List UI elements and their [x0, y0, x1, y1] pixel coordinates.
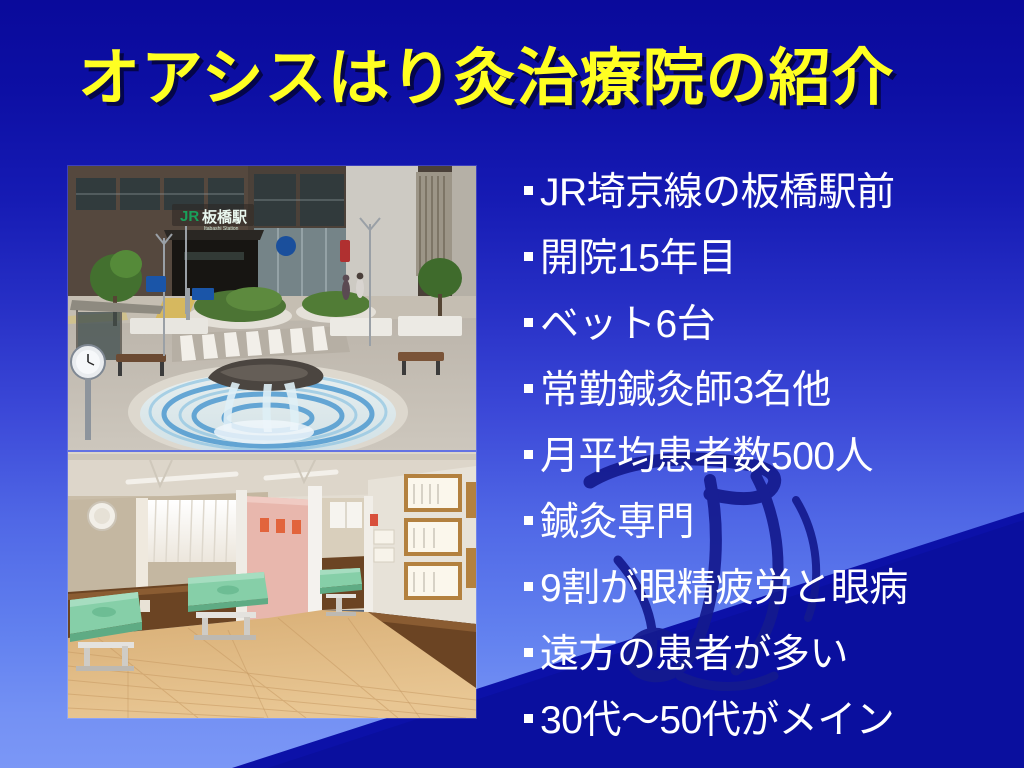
- list-item: ベット6台: [524, 292, 1016, 358]
- list-item-label: 常勤鍼灸師3名他: [540, 358, 831, 424]
- list-item-label: 月平均患者数500人: [540, 424, 873, 490]
- square-bullet-icon: [524, 384, 533, 393]
- list-item: 開院15年目: [524, 226, 1016, 292]
- svg-text:JR: JR: [180, 208, 199, 225]
- square-bullet-icon: [524, 714, 533, 723]
- jr-itabashi-station-plaza-photo: JR 板橋駅 Itabashi Station: [68, 166, 476, 450]
- svg-text:板橋駅: 板橋駅: [202, 208, 248, 226]
- square-bullet-icon: [524, 252, 533, 261]
- square-bullet-icon: [524, 582, 533, 591]
- list-item: JR埼京線の板橋駅前: [524, 160, 1016, 226]
- list-item-label: JR埼京線の板橋駅前: [540, 160, 895, 226]
- list-item-label: 鍼灸専門: [540, 490, 694, 556]
- presentation-slide: オアシスはり灸治療院の紹介: [0, 0, 1024, 768]
- list-item: 鍼灸専門: [524, 490, 1016, 556]
- clinic-treatment-room-photo: [68, 452, 476, 718]
- list-item-label: ベット6台: [540, 292, 715, 358]
- square-bullet-icon: [524, 450, 533, 459]
- list-item: 月平均患者数500人: [524, 424, 1016, 490]
- list-item-label: 開院15年目: [540, 226, 736, 292]
- square-bullet-icon: [524, 648, 533, 657]
- list-item: 遠方の患者が多い: [524, 622, 1016, 688]
- list-item-label: 30代～50代がメイン: [540, 688, 894, 754]
- list-item: 常勤鍼灸師3名他: [524, 358, 1016, 424]
- list-item: 9割が眼精疲労と眼病: [524, 556, 1016, 622]
- square-bullet-icon: [524, 516, 533, 525]
- square-bullet-icon: [524, 186, 533, 195]
- square-bullet-icon: [524, 318, 533, 327]
- page-title: オアシスはり灸治療院の紹介: [78, 44, 958, 113]
- feature-bullet-list: JR埼京線の板橋駅前 開院15年目 ベット6台 常勤鍼灸師3名他 月平均患者数5…: [524, 160, 1016, 754]
- list-item-label: 遠方の患者が多い: [540, 622, 848, 688]
- list-item: 30代～50代がメイン: [524, 688, 1016, 754]
- list-item-label: 9割が眼精疲労と眼病: [540, 556, 908, 622]
